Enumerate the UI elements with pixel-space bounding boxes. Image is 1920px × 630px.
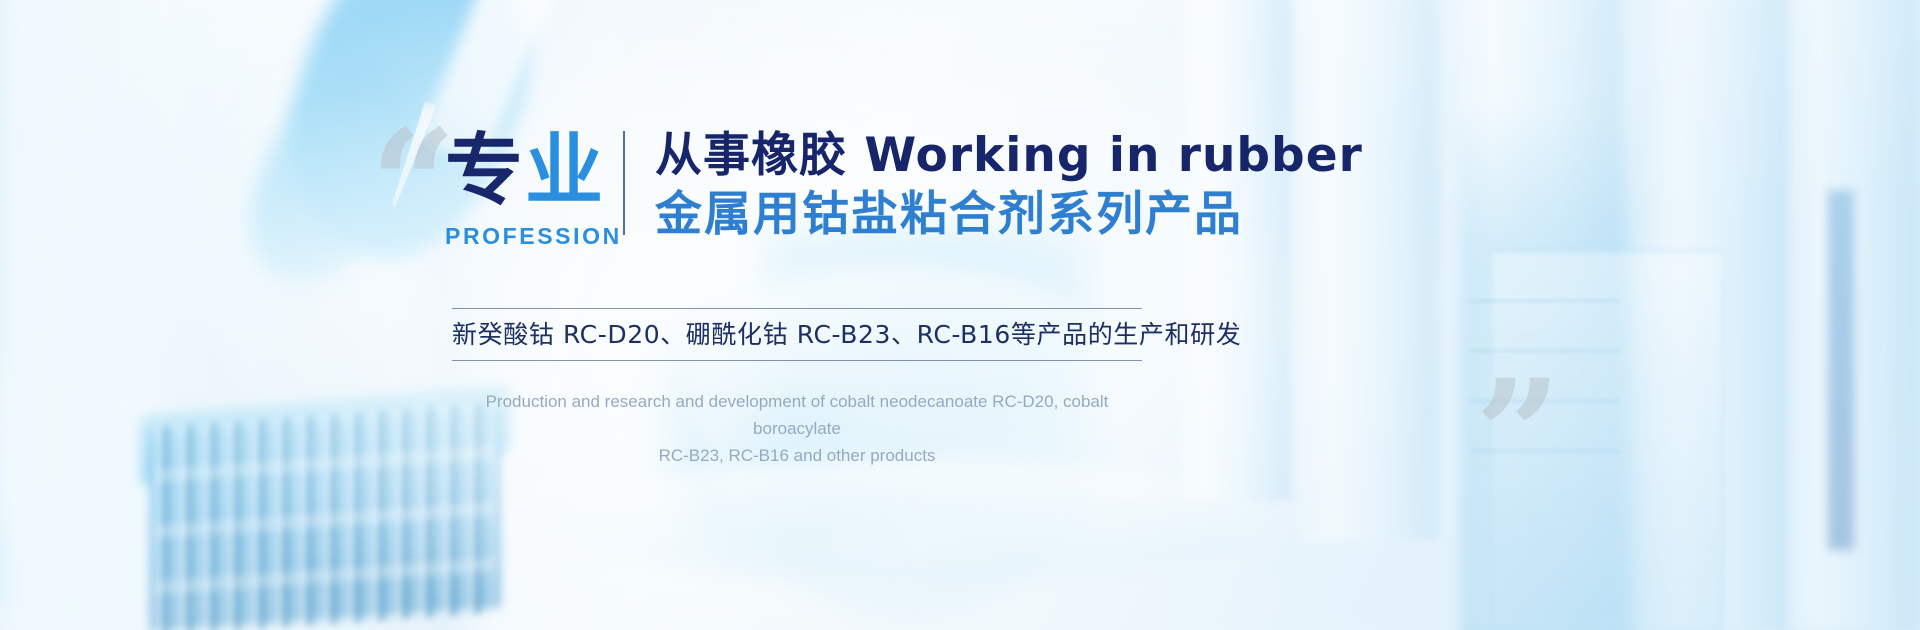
subtitle-block: 新癸酸钴 RC-D20、硼酰化钴 RC-B23、RC-B16等产品的生产和研发 bbox=[452, 308, 1142, 361]
subtitle-english-line-1: Production and research and development … bbox=[452, 388, 1142, 442]
headline-line-2: 金属用钴盐粘合剂系列产品 bbox=[655, 185, 1363, 245]
subtitle-rule-bottom bbox=[452, 360, 1142, 361]
headline-titles: 从事橡胶 Working in rubber 金属用钴盐粘合剂系列产品 bbox=[655, 125, 1363, 245]
subtitle-english: Production and research and development … bbox=[452, 388, 1142, 469]
banner-stage: “ ” 专业 PROFESSION 从事橡胶 Working in rubber… bbox=[0, 0, 1920, 630]
logo-english-label: PROFESSION bbox=[445, 223, 593, 250]
logo-char-ye: 业 bbox=[525, 126, 605, 216]
profession-logo: 专业 PROFESSION bbox=[445, 125, 593, 250]
logo-char-zhuan: 专 bbox=[445, 126, 525, 216]
vertical-divider bbox=[623, 131, 625, 235]
logo-chinese: 专业 bbox=[445, 125, 593, 217]
subtitle-rule-top bbox=[452, 308, 1142, 309]
headline-row: 专业 PROFESSION 从事橡胶 Working in rubber 金属用… bbox=[445, 125, 1363, 250]
subtitle-chinese: 新癸酸钴 RC-D20、硼酰化钴 RC-B23、RC-B16等产品的生产和研发 bbox=[452, 309, 1142, 360]
banner-content: 专业 PROFESSION 从事橡胶 Working in rubber 金属用… bbox=[0, 0, 1920, 630]
headline-line-1: 从事橡胶 Working in rubber bbox=[655, 127, 1363, 185]
subtitle-english-line-2: RC-B23, RC-B16 and other products bbox=[452, 442, 1142, 469]
